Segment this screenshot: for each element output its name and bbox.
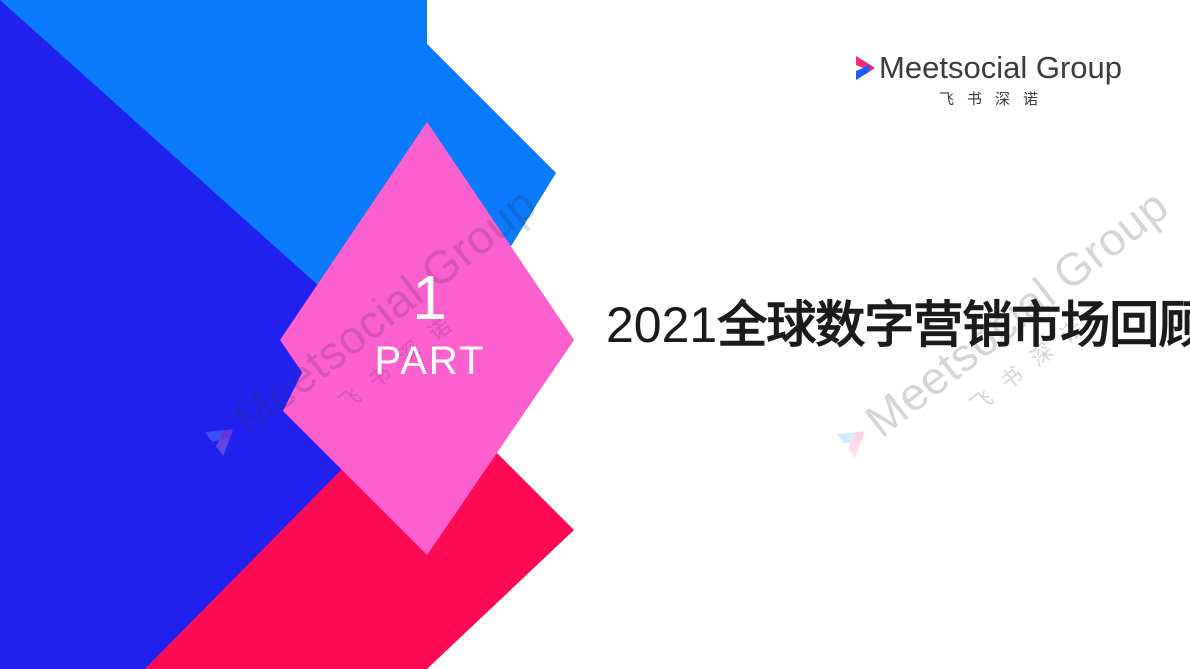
section-marker: 1 PART (330, 268, 530, 384)
brand-wordmark: Meetsocial Group (879, 52, 1122, 83)
brand-cjk-subtitle: 飞书深诺 (926, 90, 1051, 108)
section-label: PART (330, 338, 530, 384)
page-title: 2021全球数字营销市场回顾 (606, 296, 1190, 354)
meetsocial-chevron-icon (834, 415, 879, 460)
page-title-cjk: 全球数字营销市场回顾 (717, 296, 1190, 354)
meetsocial-chevron-icon (855, 55, 877, 81)
brand-logo: Meetsocial Group 飞书深诺 (855, 52, 1122, 108)
section-number: 1 (330, 268, 530, 330)
page-title-year: 2021 (606, 297, 717, 353)
brand-logo-row: Meetsocial Group (855, 52, 1122, 83)
slide-root: Meetsocial Group 飞书深诺 Meetsocial Group 飞… (0, 0, 1190, 669)
